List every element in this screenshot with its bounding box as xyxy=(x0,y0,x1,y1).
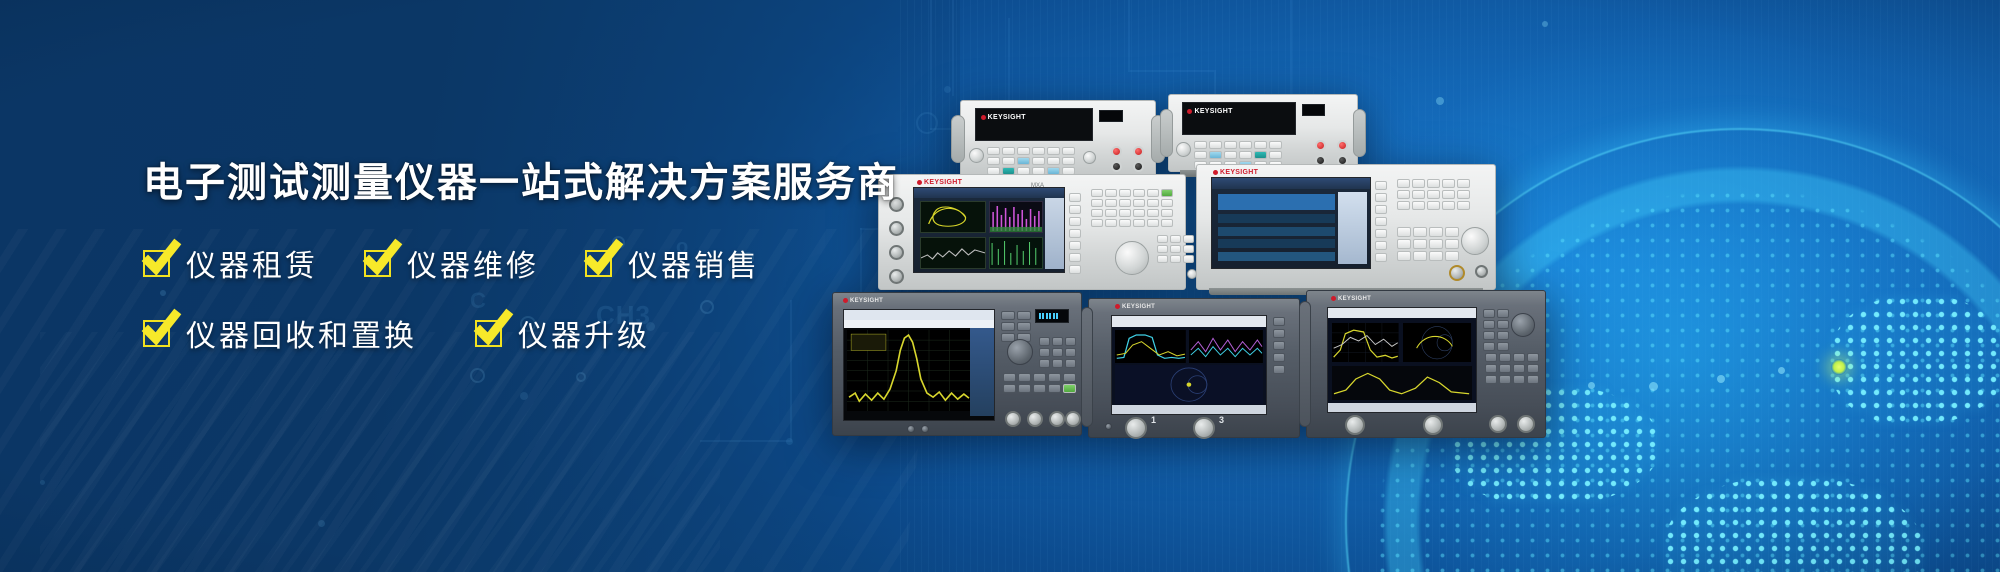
service-item-label: 仪器回收和置换 xyxy=(186,311,417,355)
service-list: 仪器租赁 仪器维修 仪器销售 xyxy=(143,241,903,355)
checkbox-checked-icon xyxy=(143,320,170,347)
service-item-label: 仪器租赁 xyxy=(186,241,318,285)
checkbox-checked-icon xyxy=(364,250,391,277)
checkbox-checked-icon xyxy=(585,250,612,277)
checkbox-checked-icon xyxy=(475,320,502,347)
checkbox-checked-icon xyxy=(143,250,170,277)
service-row: 仪器租赁 仪器维修 仪器销售 xyxy=(143,241,903,285)
page-title: 电子测试测量仪器一站式解决方案服务商 xyxy=(143,160,903,207)
instrument-digital-multimeter-right: KEYSIGHT xyxy=(1168,94,1358,172)
instrument-photo-cluster: KEYSIGHT KEYSIGHT xyxy=(820,92,1580,512)
instrument-vector-signal-generator: KEYSIGHT xyxy=(1196,164,1496,290)
service-item-instrument-sales[interactable]: 仪器销售 xyxy=(585,241,760,285)
instrument-pna-network-analyzer-middle: KEYSIGHT xyxy=(1088,298,1300,438)
service-item-instrument-rental[interactable]: 仪器租赁 xyxy=(143,241,318,285)
instrument-digital-multimeter-left: KEYSIGHT xyxy=(960,100,1156,178)
service-row: 仪器回收和置换 仪器升级 xyxy=(143,311,903,355)
instrument-pna-network-analyzer-right: KEYSIGHT xyxy=(1306,290,1546,438)
service-item-label: 仪器销售 xyxy=(628,241,760,285)
service-item-label: 仪器维修 xyxy=(407,241,539,285)
service-item-instrument-repair[interactable]: 仪器维修 xyxy=(364,241,539,285)
hero-banner: CH3 C o xyxy=(0,0,2000,572)
service-item-instrument-upgrade[interactable]: 仪器升级 xyxy=(475,311,650,355)
service-item-label: 仪器升级 xyxy=(518,311,650,355)
instrument-signal-analyzer-mxa: KEYSIGHT MXA xyxy=(878,174,1186,290)
service-item-instrument-recycle-exchange[interactable]: 仪器回收和置换 xyxy=(143,311,417,355)
banner-copy-block: 电子测试测量仪器一站式解决方案服务商 仪器租赁 xyxy=(143,160,903,381)
